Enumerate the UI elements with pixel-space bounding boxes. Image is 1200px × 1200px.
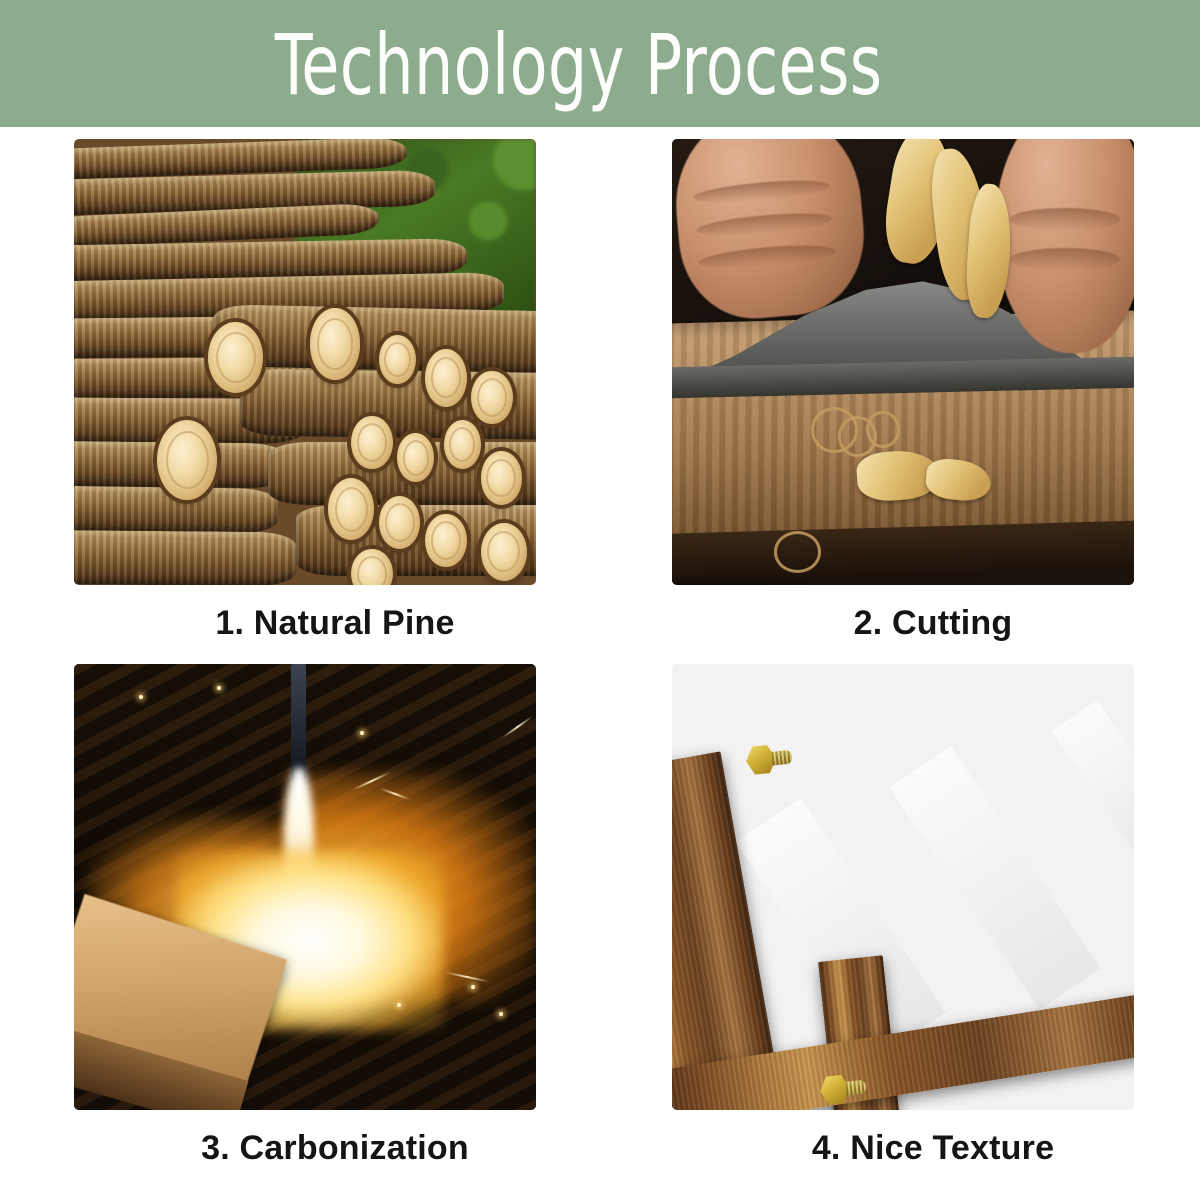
- log-stack: [74, 139, 536, 585]
- nice-texture-photo: [672, 664, 1134, 1110]
- process-step-4: 4. Nice Texture: [668, 664, 1198, 1168]
- step-1-caption: 1. Natural Pine: [70, 604, 600, 643]
- shaving-curl: [866, 411, 900, 448]
- process-step-2: 2. Cutting: [668, 139, 1198, 643]
- natural-pine-photo: [74, 139, 536, 585]
- step-3-caption: 3. Carbonization: [70, 1129, 600, 1168]
- process-step-grid: 1. Natural Pine: [0, 127, 1200, 1200]
- shaving-curl: [774, 531, 822, 573]
- process-step-3: 3. Carbonization: [70, 664, 600, 1168]
- page-header: Technology Process: [0, 0, 1200, 127]
- torch-nozzle: [291, 664, 306, 780]
- carbonization-photo: [74, 664, 536, 1110]
- step-2-caption: 2. Cutting: [668, 604, 1198, 643]
- bolt-shaft: [845, 1080, 866, 1096]
- step-4-caption: 4. Nice Texture: [668, 1129, 1198, 1168]
- brass-bolt: [818, 1072, 867, 1107]
- page-title: Technology Process: [275, 23, 883, 107]
- process-step-1: 1. Natural Pine: [70, 139, 600, 643]
- cutting-photo: [672, 139, 1134, 585]
- brass-bolt: [744, 742, 793, 777]
- bolt-shaft: [771, 750, 792, 766]
